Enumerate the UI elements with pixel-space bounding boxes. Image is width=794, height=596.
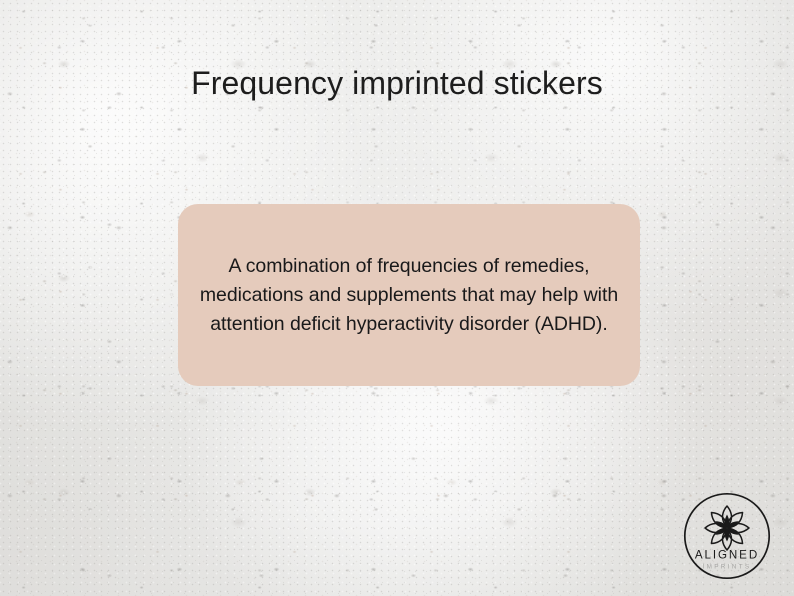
logo-brand-name: ALIGNED — [695, 549, 759, 562]
poster-canvas: Frequency imprinted stickers A combinati… — [0, 0, 794, 596]
brand-logo: ALIGNED IMPRINTS — [683, 492, 771, 580]
page-title: Frequency imprinted stickers — [0, 64, 794, 102]
description-text: A combination of frequencies of remedies… — [178, 252, 640, 339]
logo-sub-name: IMPRINTS — [703, 564, 752, 571]
lotus-mandala-icon — [705, 506, 749, 550]
description-card: A combination of frequencies of remedies… — [178, 204, 640, 386]
